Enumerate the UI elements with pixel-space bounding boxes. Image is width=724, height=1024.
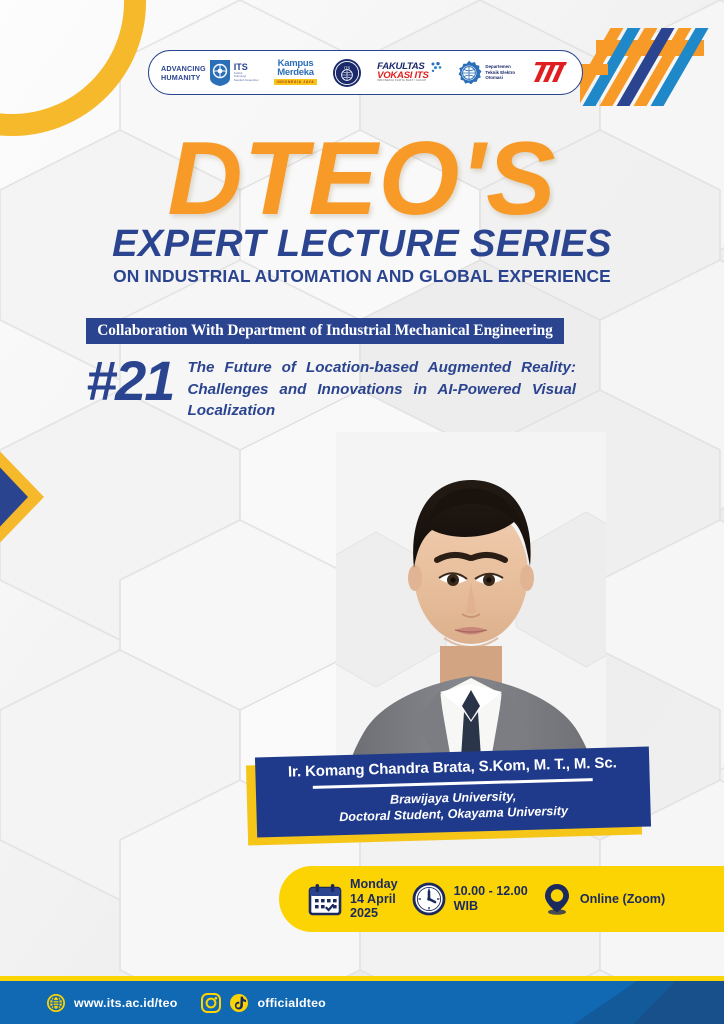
- its-shield-icon: [209, 59, 231, 87]
- poster-tagline: ON INDUSTRIAL AUTOMATION AND GLOBAL EXPE…: [0, 266, 724, 287]
- poster-canvas: ADVANCING HUMANITY ITS Institut Teknolog…: [0, 0, 724, 1024]
- til-logo-icon: [530, 62, 570, 84]
- event-date-line1: Monday: [350, 877, 398, 892]
- advancing-humanity-line2: HUMANITY: [161, 73, 206, 82]
- speaker-portrait-photo: [336, 432, 606, 788]
- episode-number: #21: [86, 352, 173, 422]
- dteo-gear-globe-icon: [456, 60, 482, 86]
- episode-topic: The Future of Location-based Augmented R…: [187, 352, 576, 422]
- poster-main-title: DTEO'S: [0, 132, 724, 228]
- fakultas-tagline: INDONESIA KARYA BAKTI CAKAP: [377, 80, 441, 83]
- event-time-item: 10.00 - 12.00 WIB: [411, 881, 528, 917]
- event-time-line1: 10.00 - 12.00: [454, 884, 528, 899]
- footer-social-handle[interactable]: officialdteo: [257, 996, 326, 1010]
- clock-icon: [411, 881, 447, 917]
- corner-arc-decoration: [0, 0, 146, 136]
- kampus-merdeka-word2: Merdeka: [274, 69, 318, 78]
- event-date-line3: 2025: [350, 906, 398, 921]
- globe-icon[interactable]: [46, 993, 66, 1013]
- instagram-icon[interactable]: [201, 993, 221, 1013]
- organization-logo-bar: ADVANCING HUMANITY ITS Institut Teknolog…: [148, 50, 583, 95]
- logo-kampus-merdeka: Kampus Merdeka INDONESIA JAYA: [274, 60, 318, 84]
- its-sub3: Sepuluh Nopember: [234, 79, 259, 82]
- its-seal-icon: ITS: [332, 58, 362, 88]
- dteo-line3: Otomasi: [485, 75, 515, 81]
- vokasi-dots-icon: [431, 62, 442, 73]
- tiktok-icon[interactable]: [229, 993, 249, 1013]
- logo-fakultas-vokasi: FAKULTAS VOKASI ITS INDONESIA KARYA BAKT…: [377, 62, 441, 83]
- event-info-bar: Monday 14 April 2025 10.00 - 12.00 WIB: [279, 866, 724, 932]
- event-location-line1: Online (Zoom): [580, 892, 665, 907]
- poster-subtitle: EXPERT LECTURE SERIES: [0, 224, 724, 265]
- event-date-line2: 14 April: [350, 892, 398, 907]
- calendar-icon: [307, 881, 343, 917]
- advancing-humanity-line1: ADVANCING: [161, 64, 206, 73]
- title-block: DTEO'S EXPERT LECTURE SERIES ON INDUSTRI…: [0, 132, 724, 287]
- episode-block: #21 The Future of Location-based Augment…: [86, 352, 576, 422]
- event-time-line2: WIB: [454, 899, 528, 914]
- dteo-line1: Departemen: [485, 64, 515, 70]
- footer-bar: www.its.ac.id/teo officialdteo: [0, 976, 724, 1024]
- event-location-item: Online (Zoom): [541, 881, 665, 917]
- collaboration-ribbon: Collaboration With Department of Industr…: [86, 318, 564, 344]
- location-pin-icon: [541, 881, 573, 917]
- logo-advancing-humanity: ADVANCING HUMANITY ITS Institut Teknolog…: [161, 59, 259, 87]
- speaker-name: Ir. Komang Chandra Brata, S.Kom, M. T., …: [288, 755, 617, 781]
- footer-website[interactable]: www.its.ac.id/teo: [74, 996, 177, 1010]
- logo-dteo: Departemen Teknik Elektro Otomasi: [456, 60, 515, 86]
- event-date-item: Monday 14 April 2025: [307, 877, 398, 921]
- kampus-merdeka-ribbon: INDONESIA JAYA: [274, 79, 318, 85]
- speaker-banner: Ir. Komang Chandra Brata, S.Kom, M. T., …: [255, 747, 651, 838]
